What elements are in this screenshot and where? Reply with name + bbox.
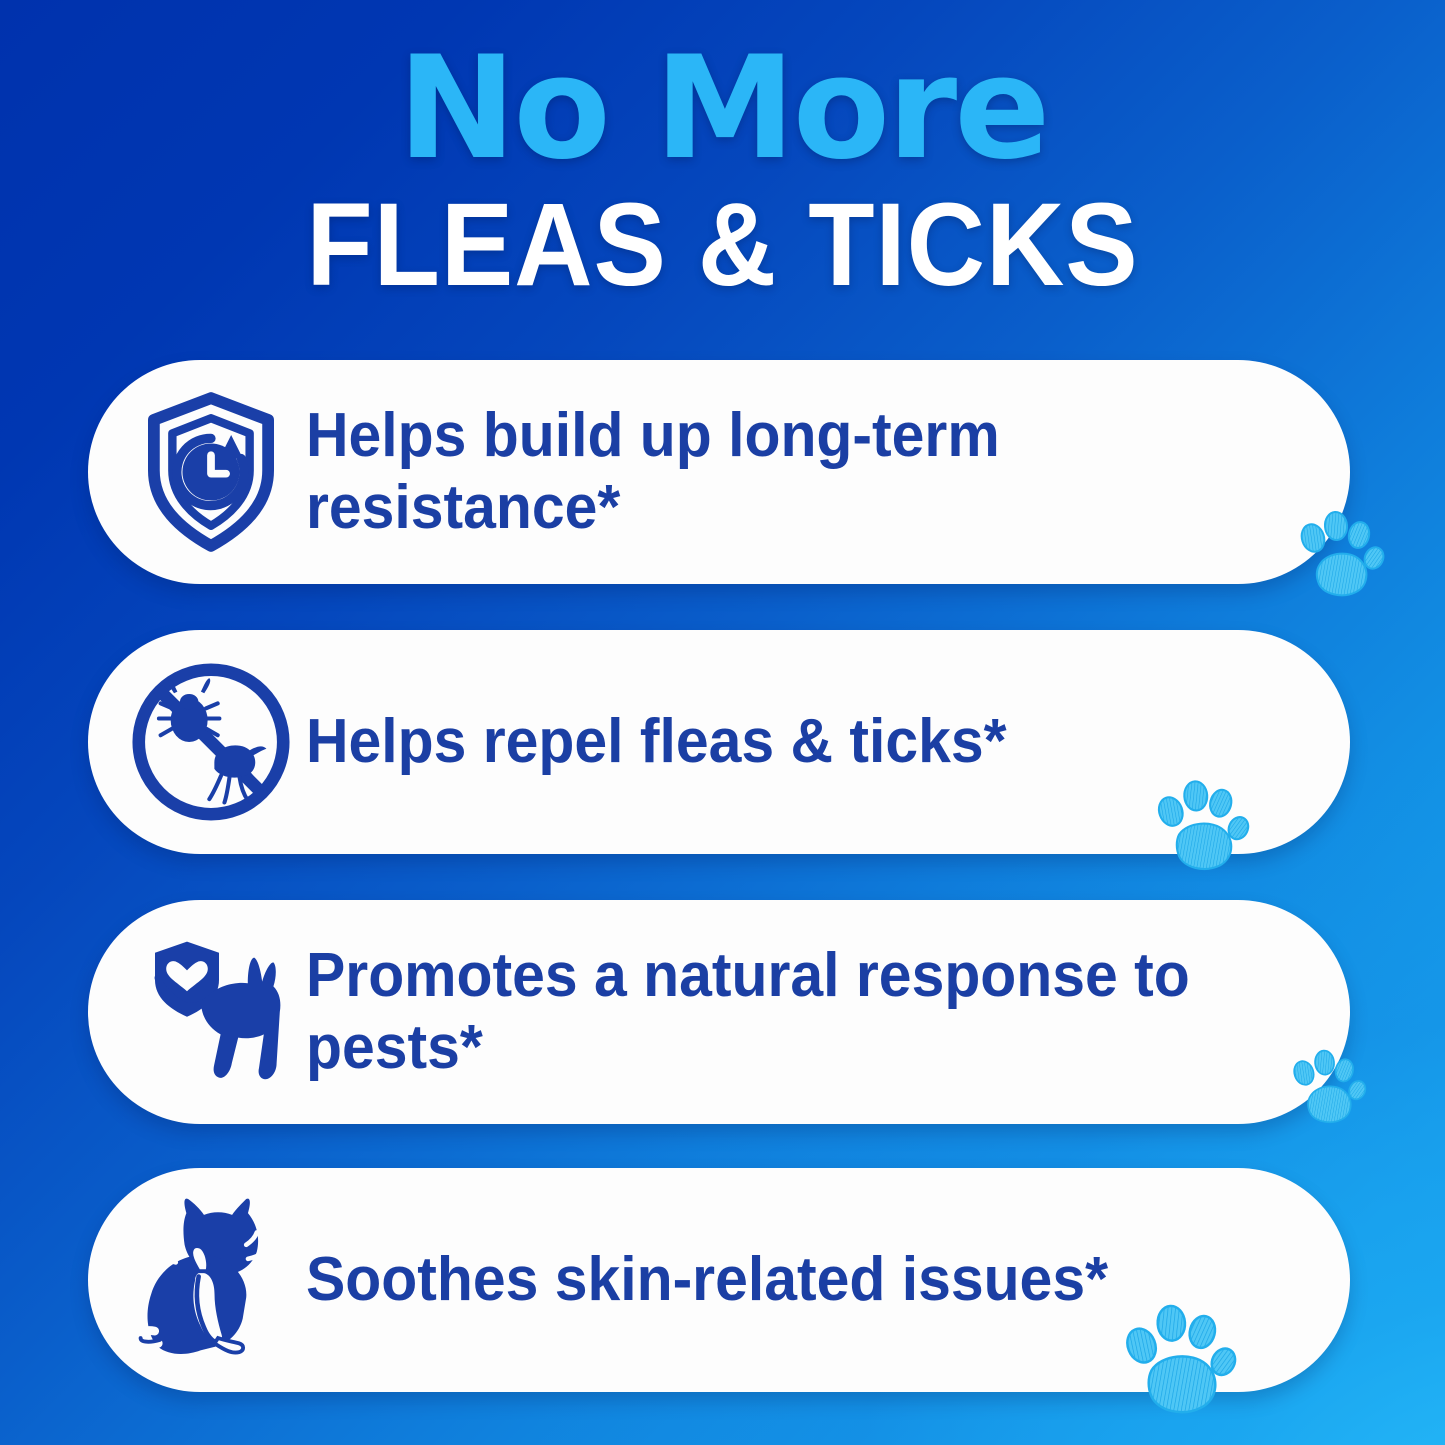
cat-scratching-icon [116,1192,306,1368]
benefit-text: Helps repel fleas & ticks* [306,706,1298,778]
cat-shield-heart-icon [116,924,306,1100]
benefit-text: Promotes a natural response to pests* [306,940,1298,1084]
shield-clock-icon [116,388,306,556]
infographic-poster: No More FLEAS & TICKS Helps build up lon… [0,0,1445,1445]
no-pests-icon [116,658,306,826]
poster-heading: No More FLEAS & TICKS [0,44,1445,301]
benefit-card-resistance: Helps build up long-term resistance* [88,360,1350,584]
benefit-card-repel: Helps repel fleas & ticks* [88,630,1350,854]
heading-line-no-more: No More [0,44,1445,175]
benefit-text: Helps build up long-term resistance* [306,400,1298,544]
heading-line-fleas-and-ticks: FLEAS & TICKS [58,189,1387,301]
benefit-card-soothes-skin: Soothes skin-related issues* [88,1168,1350,1392]
benefit-text: Soothes skin-related issues* [306,1244,1298,1316]
benefit-card-natural-response: Promotes a natural response to pests* [88,900,1350,1124]
